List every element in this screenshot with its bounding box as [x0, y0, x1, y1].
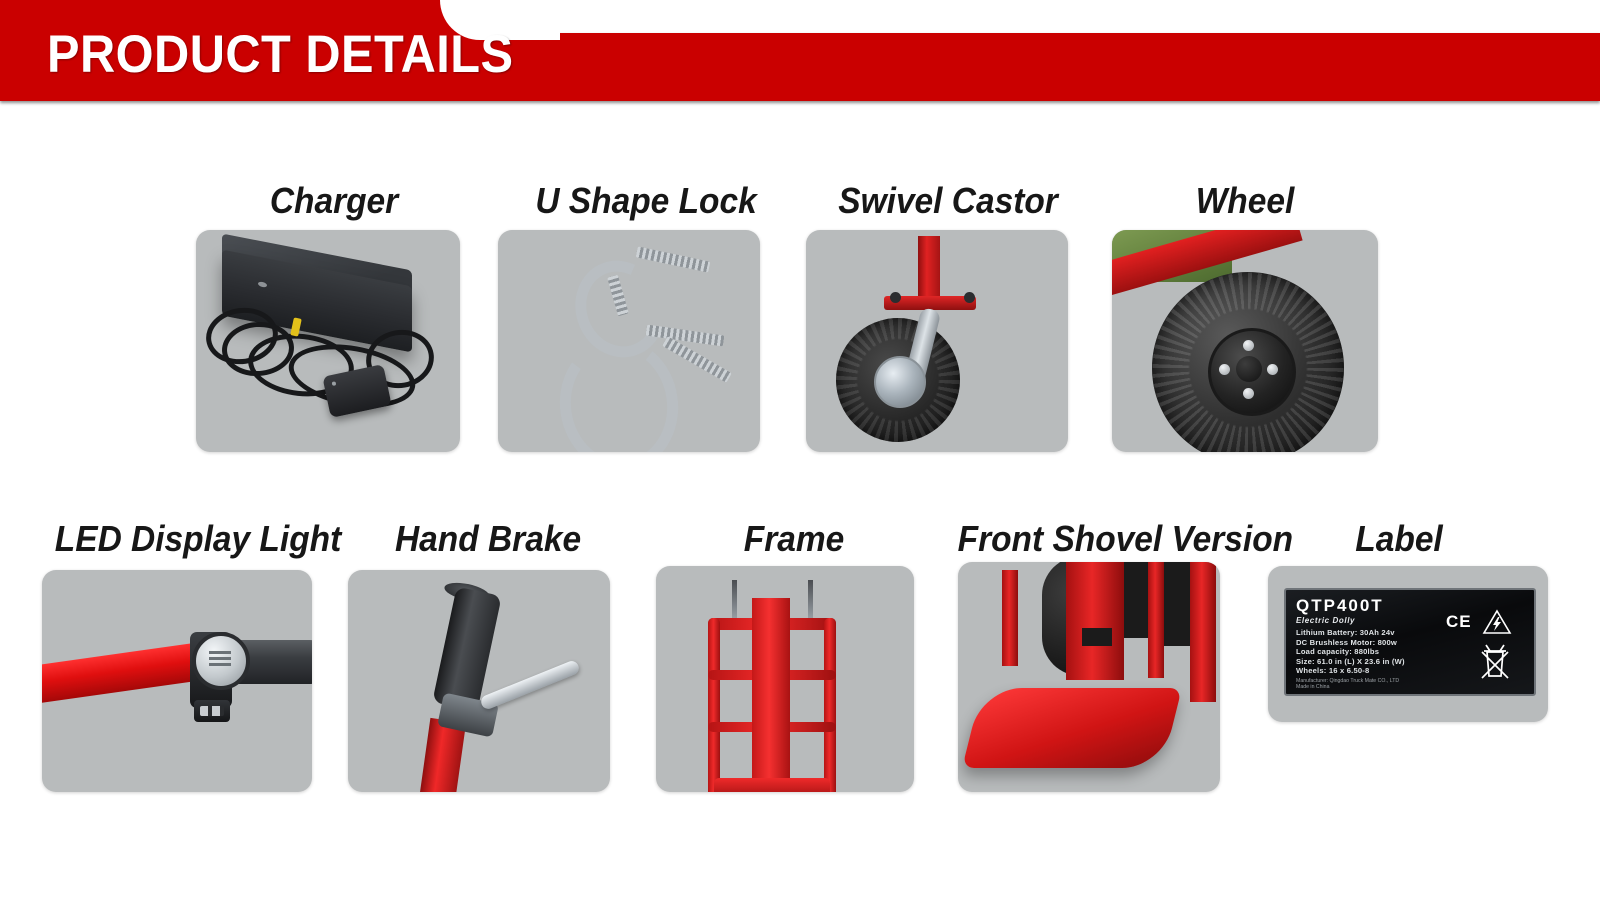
nameplate-spec-load: Load capacity: 880lbs — [1296, 647, 1405, 657]
weee-crossed-out-bin-icon — [1478, 642, 1512, 682]
page-title: PRODUCT DETAILS — [47, 24, 514, 85]
electric-shock-warning-triangle-icon — [1482, 609, 1512, 635]
nameplate-model: QTP400T — [1296, 596, 1384, 616]
card-label-swivel-castor: Swivel Castor — [838, 180, 1058, 222]
led-display-light-photo — [42, 570, 312, 792]
page-header: PRODUCT DETAILS — [0, 0, 1600, 108]
nameplate-spec-size: Size: 61.0 in (L) X 23.6 in (W) — [1296, 657, 1405, 667]
u-shape-lock-photo — [498, 230, 760, 452]
nameplate-footer: Manufacturer: Qingdao Truck Mate CO., LT… — [1296, 678, 1399, 691]
swivel-castor-photo — [806, 230, 1068, 452]
card-label-label: Label — [1355, 518, 1442, 560]
nameplate-product-type: Electric Dolly — [1296, 616, 1355, 625]
card-label-front-shovel-version: Front Shovel Version — [958, 518, 1293, 560]
card-label-charger: Charger — [270, 180, 398, 222]
card-label-frame: Frame — [744, 518, 844, 560]
wheel-photo — [1112, 230, 1378, 452]
nameplate-spec-motor: DC Brushless Motor: 800w — [1296, 638, 1405, 648]
ce-mark-icon: CE — [1446, 612, 1472, 632]
hand-brake-photo — [348, 570, 610, 792]
card-label-wheel: Wheel — [1196, 180, 1295, 222]
nameplate: QTP400T Electric Dolly Lithium Battery: … — [1284, 588, 1536, 696]
card-label-hand-brake: Hand Brake — [395, 518, 581, 560]
front-shovel-version-photo — [958, 562, 1220, 792]
nameplate-origin: Made in China — [1296, 684, 1399, 690]
frame-photo — [656, 566, 914, 792]
nameplate-spec-wheels: Wheels: 16 x 6.50-8 — [1296, 666, 1405, 676]
card-label-led-display-light: LED Display Light — [55, 518, 341, 560]
nameplate-specs: Lithium Battery: 30Ah 24v DC Brushless M… — [1296, 628, 1405, 676]
nameplate-spec-battery: Lithium Battery: 30Ah 24v — [1296, 628, 1405, 638]
charger-photo — [196, 230, 460, 452]
card-label-u-shape-lock: U Shape Lock — [535, 180, 756, 222]
label-photo: QTP400T Electric Dolly Lithium Battery: … — [1268, 566, 1548, 722]
